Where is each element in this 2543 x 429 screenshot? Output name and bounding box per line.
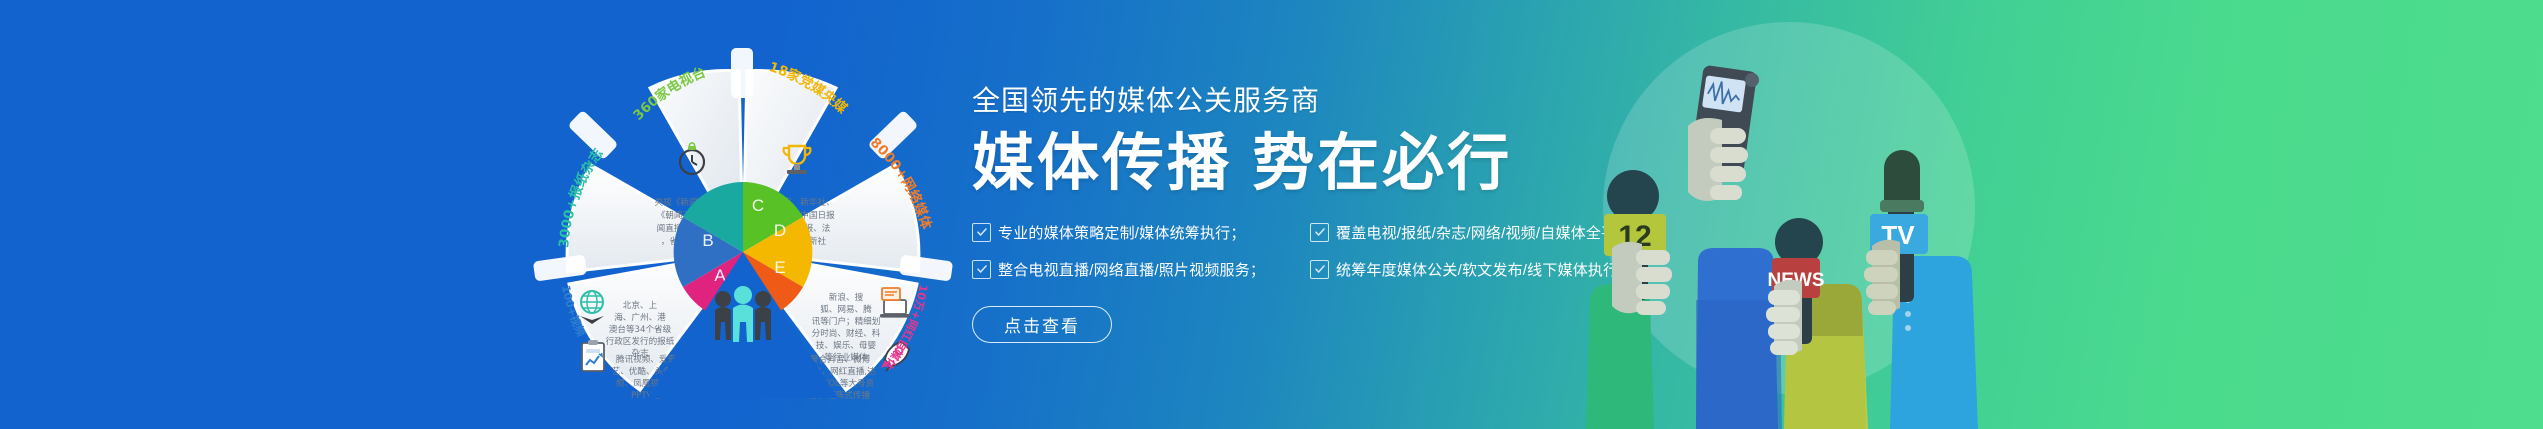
promo-banner: 北京、上 海、广州、港 澳台等34个省级 行政区发行的报纸 杂志 央视《新闻联播… (0, 0, 2543, 429)
wheel-label-C: C (752, 196, 764, 215)
view-details-button[interactable]: 点击查看 (972, 306, 1112, 343)
fan-infographic: 北京、上 海、广州、港 澳台等34个省级 行政区发行的报纸 杂志 央视《新闻联播… (528, 40, 958, 429)
feature-label: 整合电视直播/网络直播/照片视频服务； (998, 259, 1265, 280)
feature-list: 专业的媒体策略定制/媒体统筹执行； 覆盖电视/报纸/杂志/网络/视频/自媒体全平… (972, 222, 1612, 280)
banner-subtitle: 全国领先的媒体公关服务商 (972, 84, 1612, 118)
feature-item: 专业的媒体策略定制/媒体统筹执行； (972, 222, 1302, 243)
checkbox-checked-icon (1310, 223, 1329, 242)
svg-text:腾讯视频、爱奇: 腾讯视频、爱奇 (616, 353, 677, 365)
svg-text:北京、上: 北京、上 (623, 299, 658, 311)
banner-copy: 全国领先的媒体公关服务商 媒体传播 势在必行 专业的媒体策略定制/媒体统筹执行；… (972, 84, 1612, 343)
svg-text:聚合抖音、微博: 聚合抖音、微博 (810, 353, 871, 365)
svg-text:讯等门户；精细划: 讯等门户；精细划 (812, 315, 881, 327)
svg-text:技、娱乐、母婴: 技、娱乐、母婴 (816, 339, 877, 351)
checkbox-checked-icon (972, 223, 991, 242)
svg-text:行政区发行的报纸: 行政区发行的报纸 (606, 335, 675, 347)
mic-hand-recorder (1688, 65, 1782, 429)
feature-label: 专业的媒体策略定制/媒体统筹执行； (998, 222, 1246, 243)
svg-text:分时尚、财经、科: 分时尚、财经、科 (812, 327, 881, 339)
svg-text:狐、网易、腾: 狐、网易、腾 (820, 303, 872, 315)
clipboard-icon (582, 340, 604, 371)
mic-hand-tv: TV (1864, 150, 1978, 429)
mic-hand-channel-12: 12 (1586, 170, 1672, 429)
microphone-hands-illustration: 12 (1568, 0, 2088, 429)
checkbox-checked-icon (1310, 260, 1329, 279)
svg-text:海、广州、港: 海、广州、港 (614, 311, 666, 323)
wheel-label-D: D (774, 221, 786, 240)
wheel-label-E: E (774, 258, 785, 277)
svg-text:新浪、搜: 新浪、搜 (829, 291, 864, 303)
banner-title: 媒体传播 势在必行 (972, 128, 1612, 200)
wheel-label-B: B (702, 231, 713, 250)
checkbox-checked-icon (972, 260, 991, 279)
svg-text:澳台等34个省级: 澳台等34个省级 (609, 323, 672, 335)
feature-item: 整合电视直播/网络直播/照片视频服务； (972, 259, 1302, 280)
